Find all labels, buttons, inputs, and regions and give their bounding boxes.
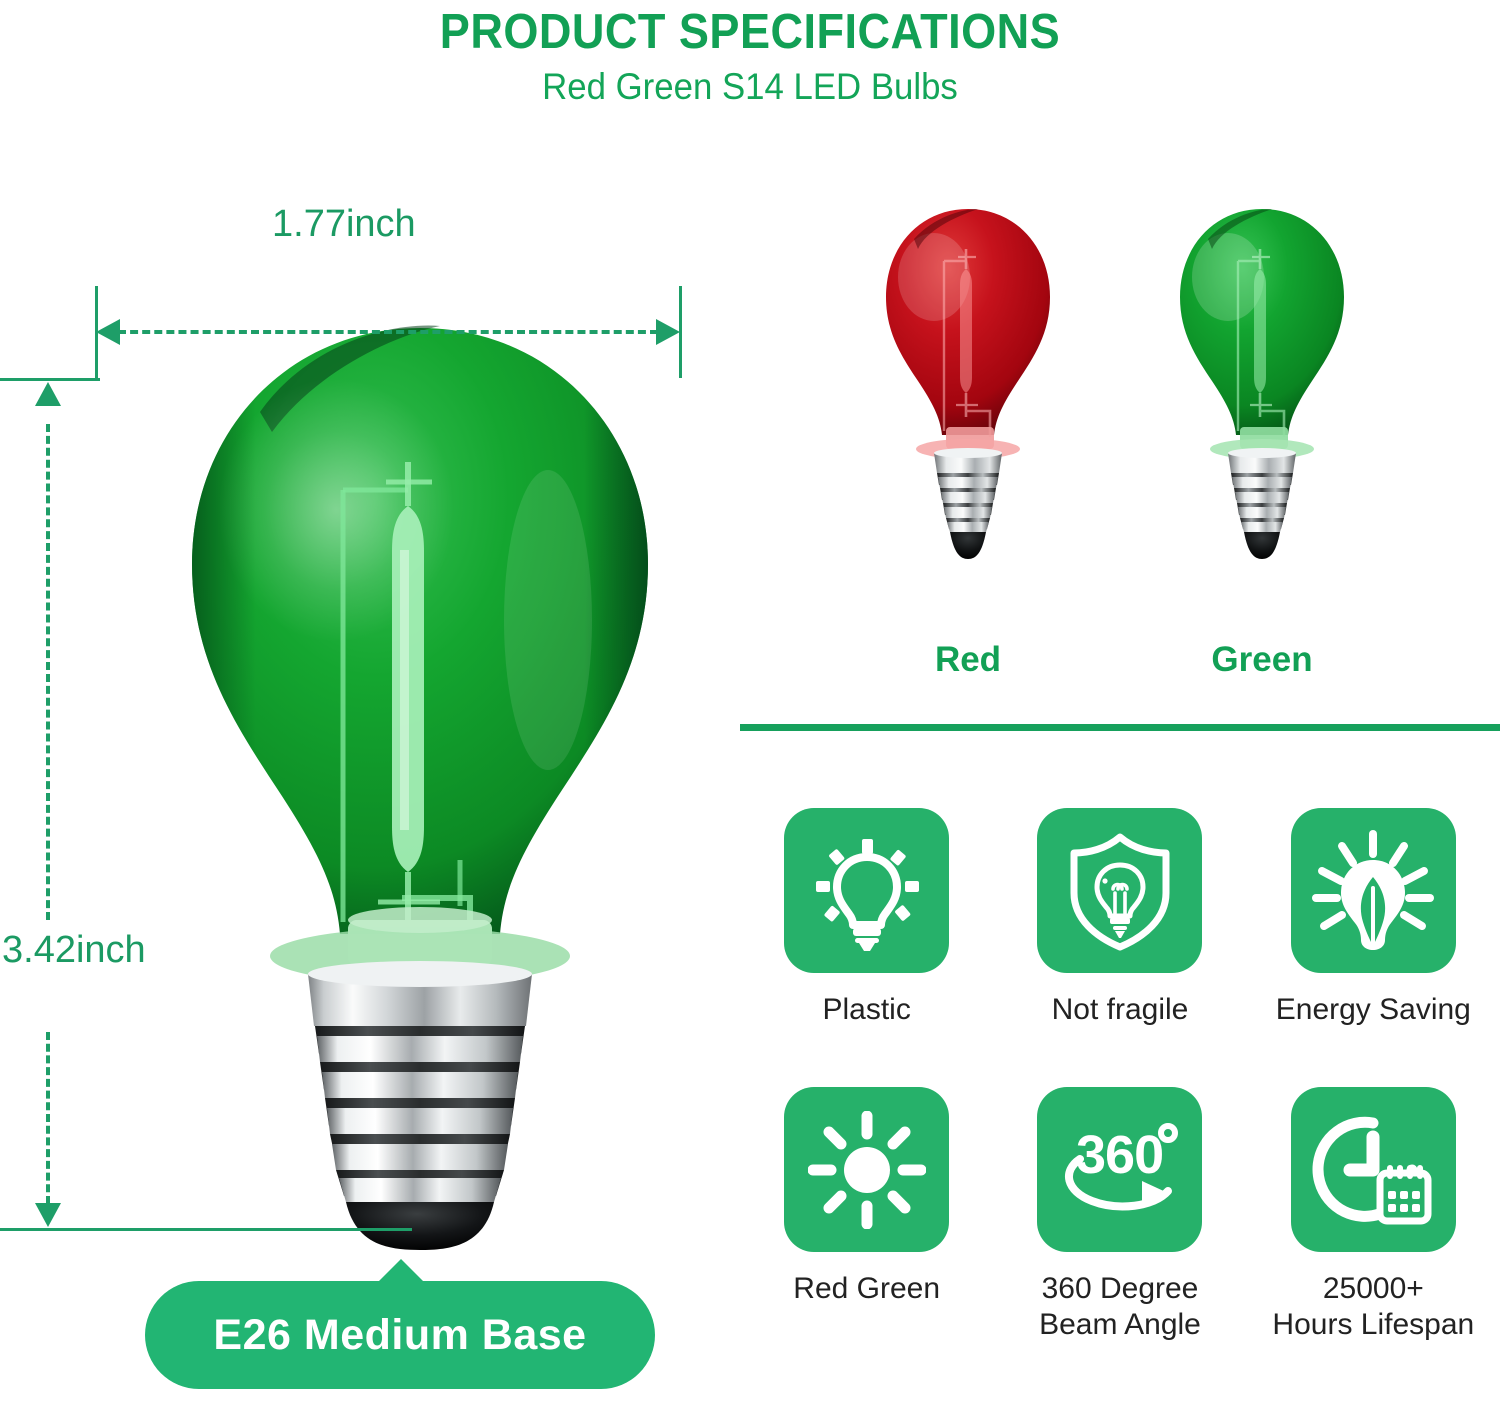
clock-calendar-icon (1312, 1109, 1434, 1231)
feature-label: 360 Degree Beam Angle (1039, 1271, 1201, 1342)
feature-tile (1037, 808, 1202, 973)
bulb-leaf-icon (1312, 830, 1434, 952)
svg-text:360: 360 (1076, 1125, 1163, 1185)
feature-beam-angle: 360 360 Degree Beam Angle (993, 1087, 1246, 1342)
e26-badge-label: E26 Medium Base (213, 1311, 586, 1360)
page-title: PRODUCT SPECIFICATIONS (60, 4, 1440, 60)
e26-screw-base (308, 961, 532, 1250)
variant-label-green: Green (1142, 640, 1382, 680)
feature-label: 25000+ Hours Lifespan (1272, 1271, 1474, 1342)
variant-bulb-red (878, 205, 1058, 565)
shield-bulb-icon (1060, 831, 1180, 951)
feature-tile (784, 808, 949, 973)
bulb-rays-icon (807, 831, 927, 951)
width-arrow-right-icon (656, 319, 680, 345)
height-dimension-label: 3.42inch (2, 929, 146, 972)
calendar-badge (1380, 1165, 1428, 1221)
feature-red-green: Red Green (740, 1087, 993, 1342)
height-dimension-line-lower (46, 1032, 50, 1204)
width-arrow-left-icon (96, 319, 120, 345)
e26-base-badge: E26 Medium Base (145, 1281, 655, 1389)
feature-not-fragile: Not fragile (993, 808, 1246, 1027)
main-bulb-illustration (140, 320, 700, 1250)
feature-tile (1291, 808, 1456, 973)
height-tick-top (0, 378, 100, 381)
360-rotation-icon: 360 (1056, 1111, 1184, 1229)
feature-tile: 360 (1037, 1087, 1202, 1252)
feature-label: Not fragile (1052, 992, 1189, 1027)
height-dimension-line-upper (46, 424, 50, 920)
width-dimension-line (118, 330, 658, 334)
width-dimension-label: 1.77inch (272, 203, 416, 246)
feature-tile (784, 1087, 949, 1252)
feature-lifespan: 25000+ Hours Lifespan (1247, 1087, 1500, 1342)
height-arrow-up-icon (35, 382, 61, 406)
height-tick-bottom (0, 1228, 412, 1231)
section-divider (740, 724, 1500, 731)
feature-label: Energy Saving (1276, 992, 1471, 1027)
page-subtitle: Red Green S14 LED Bulbs (45, 66, 1455, 108)
feature-label: Red Green (793, 1271, 940, 1306)
feature-plastic: Plastic (740, 808, 993, 1027)
feature-grid: Plastic Not fragile (740, 808, 1500, 1342)
variant-bulb-green (1172, 205, 1352, 565)
feature-tile (1291, 1087, 1456, 1252)
feature-energy-saving: Energy Saving (1247, 808, 1500, 1027)
sun-brightness-icon (808, 1111, 926, 1229)
variant-label-red: Red (848, 640, 1088, 680)
feature-label: Plastic (822, 992, 910, 1027)
height-arrow-down-icon (35, 1203, 61, 1227)
product-specifications-infographic: PRODUCT SPECIFICATIONS Red Green S14 LED… (0, 0, 1500, 1409)
